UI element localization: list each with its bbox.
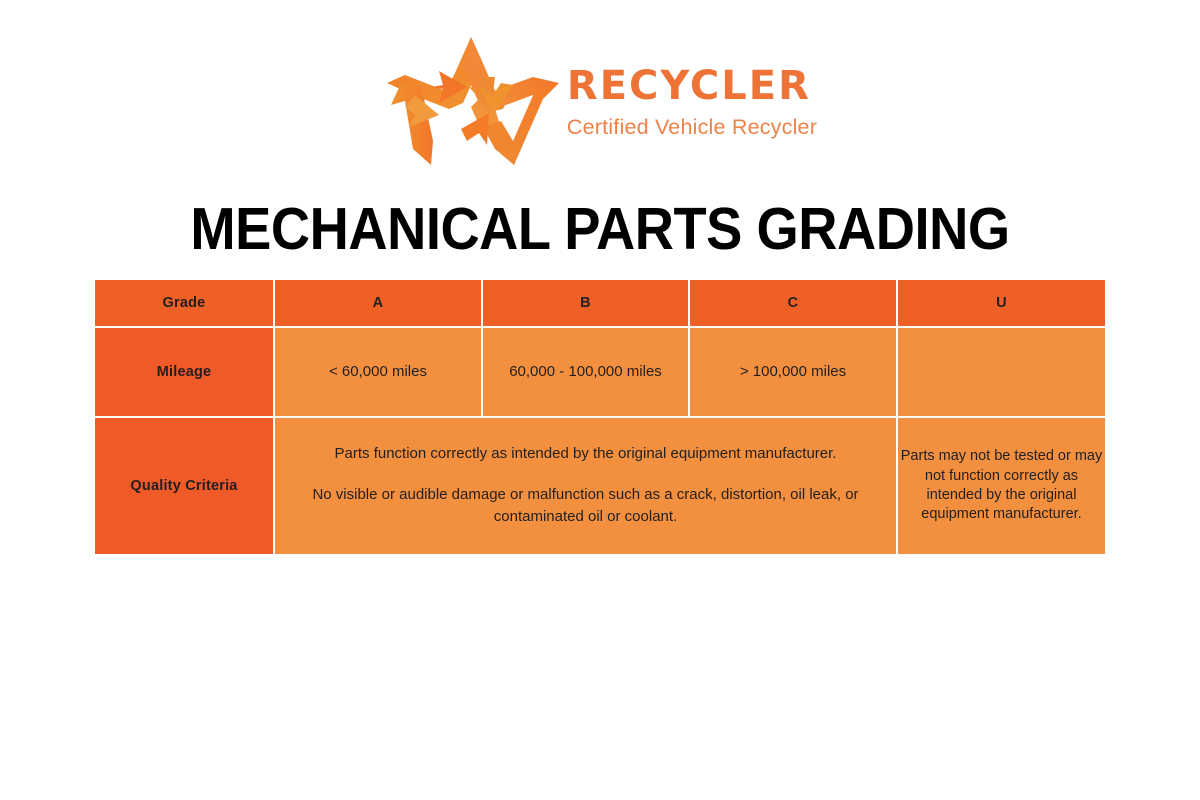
- cell-mileage-b: 60,000 - 100,000 miles: [483, 328, 690, 418]
- mechanical-parts-grading-table: Grade A B C U Mileage < 60,000 miles 60,…: [95, 280, 1105, 554]
- cell-quality-u: Parts may not be tested or may not funct…: [898, 418, 1105, 554]
- logo-wordmark: RECYCLER Certified Vehicle Recycler: [567, 65, 817, 148]
- cell-mileage-c: > 100,000 miles: [690, 328, 898, 418]
- header-cell-grade: Grade: [95, 280, 275, 328]
- logo-inner: RECYCLER Certified Vehicle Recycler: [383, 29, 817, 184]
- table-row-mileage: Mileage < 60,000 miles 60,000 - 100,000 …: [95, 328, 1105, 418]
- quality-paragraph-1: Parts function correctly as intended by …: [275, 443, 896, 466]
- row-label-quality-criteria: Quality Criteria: [95, 418, 275, 554]
- header-cell-u: U: [898, 280, 1105, 328]
- cell-quality-abc: Parts function correctly as intended by …: [275, 418, 898, 554]
- header-cell-a: A: [275, 280, 483, 328]
- table-header-row: Grade A B C U: [95, 280, 1105, 328]
- cell-mileage-a: < 60,000 miles: [275, 328, 483, 418]
- recycling-star-icon: [383, 29, 563, 184]
- page-title: MECHANICAL PARTS GRADING: [48, 196, 1152, 264]
- quality-paragraph-2: No visible or audible damage or malfunct…: [275, 484, 896, 529]
- header-cell-c: C: [690, 280, 898, 328]
- row-label-mileage: Mileage: [95, 328, 275, 418]
- cell-mileage-u: [898, 328, 1105, 418]
- logo-tagline: Certified Vehicle Recycler: [567, 114, 817, 142]
- table-row-quality-criteria: Quality Criteria Parts function correctl…: [95, 418, 1105, 554]
- header-cell-b: B: [483, 280, 690, 328]
- brand-logo: RECYCLER Certified Vehicle Recycler: [0, 26, 1200, 186]
- logo-title: RECYCLER: [567, 65, 817, 107]
